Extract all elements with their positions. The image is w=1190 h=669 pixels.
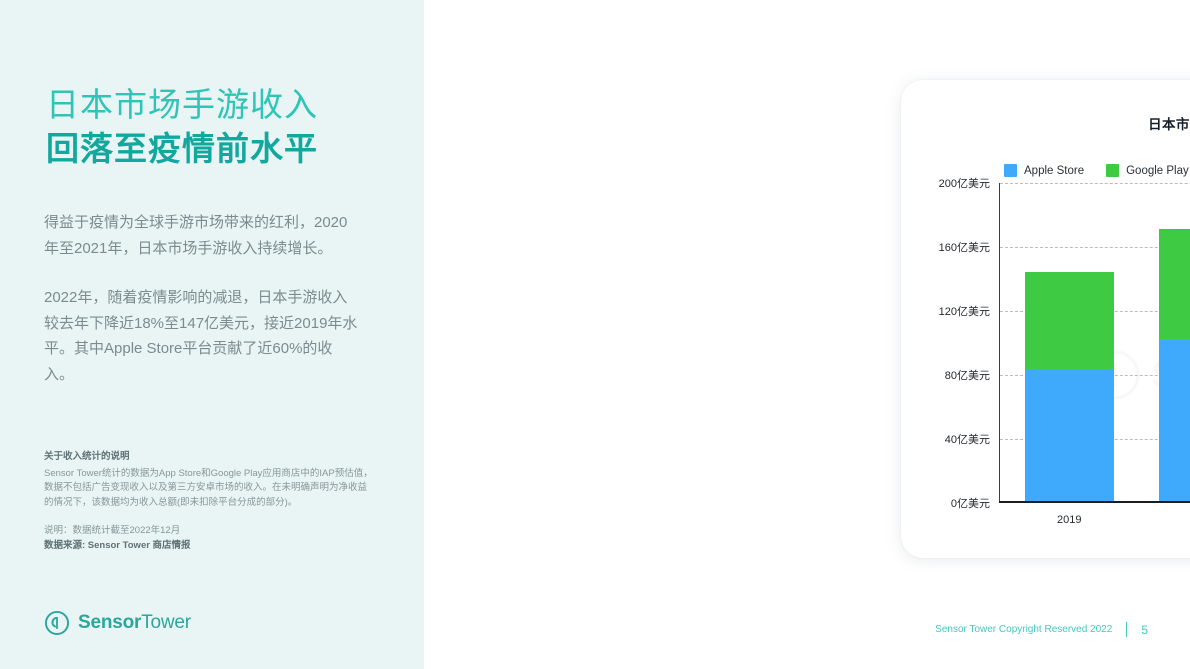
headline-line-2: 回落至疫情前水平 bbox=[46, 127, 406, 171]
footer-divider bbox=[1126, 622, 1127, 637]
notes-date-line: 说明：数据统计截至2022年12月 bbox=[44, 524, 374, 539]
body-paragraph-1: 得益于疫情为全球手游市场带来的红利，2020年至2021年，日本市场手游收入持续… bbox=[44, 210, 362, 261]
logo-bold-text: Sensor bbox=[78, 612, 141, 633]
y-axis-tick-label: 200亿美元 bbox=[939, 175, 990, 191]
methodology-notes: 关于收入统计的说明 Sensor Tower统计的数据为App Store和Go… bbox=[44, 450, 374, 553]
y-axis-tick-label: 0亿美元 bbox=[951, 495, 990, 511]
sensor-tower-wordmark: SensorTower bbox=[78, 612, 191, 634]
page-number: 5 bbox=[1141, 623, 1148, 637]
bar-segment-apple-store[interactable] bbox=[1025, 369, 1114, 501]
bar-segment-apple-store[interactable] bbox=[1159, 339, 1190, 501]
page-headline: 日本市场手游收入 回落至疫情前水平 bbox=[46, 83, 406, 171]
bar-group[interactable]: 2020 bbox=[1159, 229, 1190, 501]
legend-label: Google Play bbox=[1126, 165, 1189, 177]
right-area: 日本市场手游年度收入趋势 Apple StoreGoogle Play Sens… bbox=[424, 0, 1190, 669]
bar-group[interactable]: 2019 bbox=[1025, 272, 1114, 502]
left-info-panel: 日本市场手游收入 回落至疫情前水平 得益于疫情为全球手游市场带来的红利，2020… bbox=[0, 0, 424, 669]
footer: Sensor Tower Copyright Reserved 2022 5 bbox=[935, 622, 1148, 637]
bar-segment-google-play[interactable] bbox=[1025, 272, 1114, 370]
legend-swatch-icon bbox=[1004, 164, 1017, 177]
y-axis-line bbox=[999, 183, 1000, 503]
y-axis-tick-label: 40亿美元 bbox=[945, 431, 990, 447]
chart-title: 日本市场手游年度收入趋势 bbox=[901, 113, 1190, 133]
notes-source-line: 数据来源: Sensor Tower 商店情报 bbox=[44, 539, 374, 554]
bar-segment-google-play[interactable] bbox=[1159, 229, 1190, 339]
y-axis-tick-label: 160亿美元 bbox=[939, 239, 990, 255]
x-axis-tick-label: 2019 bbox=[1025, 514, 1114, 526]
logo-normal-text: Tower bbox=[141, 612, 191, 633]
gridline bbox=[1000, 183, 1190, 184]
body-paragraph-2: 2022年，随着疫情影响的减退，日本手游收入较去年下降近18%至147亿美元，接… bbox=[44, 285, 362, 387]
sensor-tower-logo: SensorTower bbox=[44, 610, 191, 636]
notes-title: 关于收入统计的说明 bbox=[44, 450, 374, 465]
x-axis-line bbox=[999, 501, 1190, 503]
y-axis-tick-label: 80亿美元 bbox=[945, 367, 990, 383]
chart-legend: Apple StoreGoogle Play bbox=[1004, 164, 1189, 177]
legend-item-apple-store[interactable]: Apple Store bbox=[1004, 164, 1084, 177]
chart-card: 日本市场手游年度收入趋势 Apple StoreGoogle Play Sens… bbox=[901, 80, 1190, 558]
y-axis-tick-label: 120亿美元 bbox=[939, 303, 990, 319]
chart-plot-area: 0亿美元40亿美元80亿美元120亿美元160亿美元200亿美元20192020… bbox=[999, 183, 1190, 503]
legend-swatch-icon bbox=[1106, 164, 1119, 177]
body-copy: 得益于疫情为全球手游市场带来的红利，2020年至2021年，日本市场手游收入持续… bbox=[44, 210, 362, 387]
footer-copyright: Sensor Tower Copyright Reserved 2022 bbox=[935, 624, 1112, 635]
headline-line-1: 日本市场手游收入 bbox=[46, 83, 406, 127]
legend-item-google-play[interactable]: Google Play bbox=[1106, 164, 1189, 177]
sensor-tower-mark-icon bbox=[44, 610, 70, 636]
notes-body: Sensor Tower统计的数据为App Store和Google Play应… bbox=[44, 467, 374, 511]
legend-label: Apple Store bbox=[1024, 165, 1084, 177]
x-axis-tick-label: 2020 bbox=[1159, 514, 1190, 526]
